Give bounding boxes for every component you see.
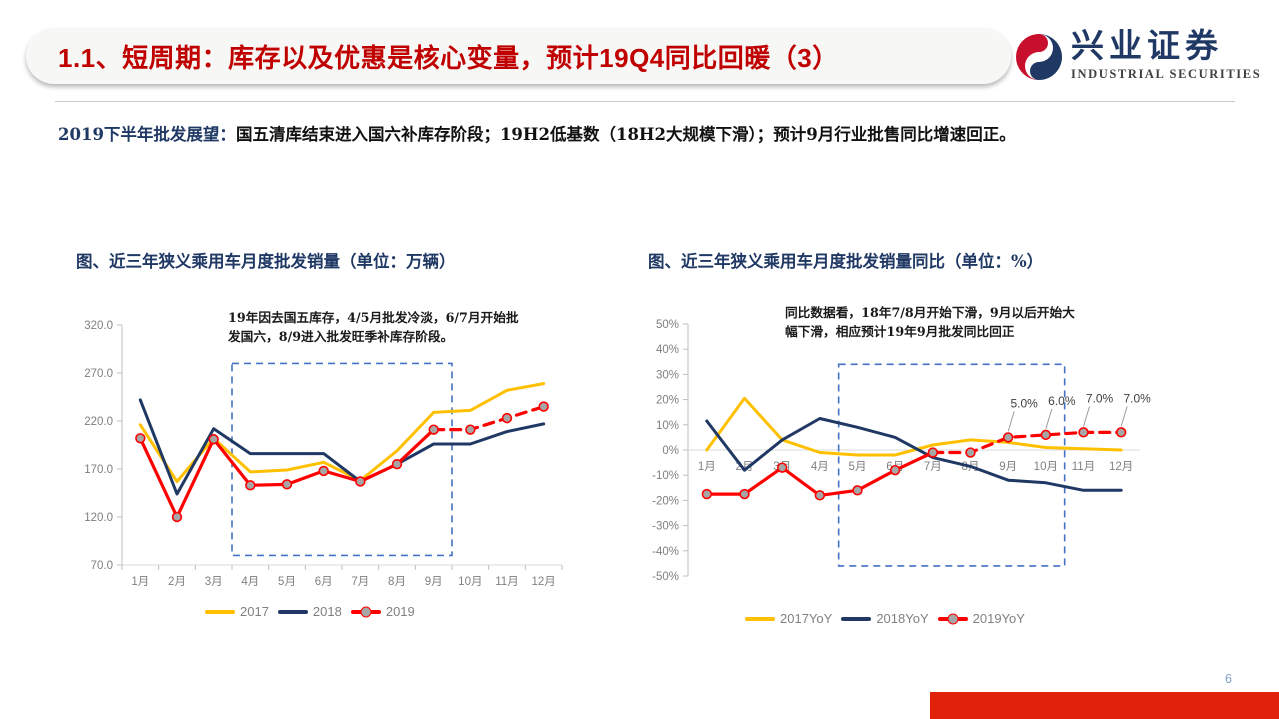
svg-text:50%: 50% [656,319,679,331]
svg-text:3月: 3月 [205,576,223,588]
legend-marker-2019yoy [947,613,958,624]
company-logo: 兴业证券 INDUSTRIAL SECURITIES [1013,27,1263,89]
svg-text:5.0%: 5.0% [1010,396,1038,410]
svg-text:10月: 10月 [1034,461,1058,473]
svg-text:5月: 5月 [849,461,867,473]
lead-highlight: 2019下半年批发展望： [58,125,236,144]
svg-text:-10%: -10% [652,470,679,482]
lead-paragraph: 2019下半年批发展望：国五清库结束进入国六补库存阶段；19H2低基数（18H2… [58,118,1233,151]
svg-text:5月: 5月 [278,576,296,588]
svg-text:220.0: 220.0 [84,416,113,428]
svg-text:12月: 12月 [1109,461,1133,473]
lead-body: 国五清库结束进入国六补库存阶段；19H2低基数（18H2大规模下滑）；预计9月行… [236,125,1016,144]
legend-item-2019[interactable]: 2019 [351,604,415,619]
svg-text:4月: 4月 [241,576,259,588]
header-divider [55,101,1235,102]
svg-text:-50%: -50% [652,571,679,583]
legend-label-2018yoy: 2018YoY [876,611,928,626]
chart-right-canvas: 50%40%30%20%10%0%-10%-20%-30%-40%-50%1月2… [640,300,1160,610]
legend-swatch-2019 [351,610,381,614]
swirl-logo-icon [1013,31,1065,83]
svg-text:70.0: 70.0 [91,560,113,572]
footer-accent-bar [930,692,1279,719]
svg-text:170.0: 170.0 [84,464,113,476]
svg-text:7月: 7月 [351,576,369,588]
logo-english-name: INDUSTRIAL SECURITIES [1071,67,1261,82]
legend-label-2019yoy: 2019YoY [973,611,1025,626]
legend-label-2017yoy: 2017YoY [780,611,832,626]
legend-swatch-2018yoy [841,617,871,621]
legend-item-2018[interactable]: 2018 [278,604,342,619]
chart-heading-left: 图、近三年狭义乘用车月度批发销量（单位：万辆） [76,248,456,272]
svg-text:4月: 4月 [811,461,829,473]
chart-right-legend: 2017YoY 2018YoY 2019YoY [745,611,1025,626]
svg-text:10%: 10% [656,420,679,432]
svg-text:8月: 8月 [388,576,406,588]
chart-right-annotation: 同比数据看，18年7/8月开始下滑，9月以后开始大幅下滑，相应预计19年9月批发… [785,303,1085,341]
legend-marker-2019 [360,606,371,617]
chart-wholesale-volume: 320.0270.0220.0170.0120.070.01月2月3月4月5月6… [76,300,576,630]
legend-swatch-2018 [278,610,308,614]
svg-text:-20%: -20% [652,495,679,507]
legend-swatch-2017yoy [745,617,775,621]
svg-text:2月: 2月 [168,576,186,588]
svg-text:40%: 40% [656,344,679,356]
legend-label-2019: 2019 [386,604,415,619]
page-title: 1.1、短周期：库存以及优惠是核心变量，预计19Q4同比回暖（3） [58,38,1018,78]
chart-wholesale-yoy: 50%40%30%20%10%0%-10%-20%-30%-40%-50%1月2… [640,300,1160,640]
chart-left-legend: 2017 2018 2019 [205,604,415,619]
svg-text:1月: 1月 [131,576,149,588]
legend-label-2017: 2017 [240,604,269,619]
legend-swatch-2017 [205,610,235,614]
chart-left-annotation: 19年因去国五库存，4/5月批发冷淡，6/7月开始批发国六，8/9进入批发旺季补… [228,308,528,346]
legend-swatch-2019yoy [938,617,968,621]
logo-chinese-name: 兴业证券 [1071,27,1223,65]
svg-text:1月: 1月 [698,461,716,473]
svg-text:9月: 9月 [425,576,443,588]
chart-heading-right: 图、近三年狭义乘用车月度批发销量同比（单位：%） [648,248,1043,272]
page-number: 6 [1225,672,1232,686]
svg-text:270.0: 270.0 [84,368,113,380]
svg-text:6.0%: 6.0% [1048,394,1076,408]
svg-text:11月: 11月 [1072,461,1095,473]
legend-label-2018: 2018 [313,604,342,619]
legend-item-2017yoy[interactable]: 2017YoY [745,611,832,626]
svg-text:120.0: 120.0 [84,512,113,524]
svg-text:-30%: -30% [652,521,679,533]
svg-text:10月: 10月 [458,576,482,588]
svg-text:7.0%: 7.0% [1123,391,1151,405]
svg-text:0%: 0% [662,445,679,457]
svg-text:7月: 7月 [924,461,942,473]
legend-item-2017[interactable]: 2017 [205,604,269,619]
svg-text:-40%: -40% [652,546,679,558]
svg-text:7.0%: 7.0% [1086,391,1114,405]
svg-text:6月: 6月 [315,576,333,588]
svg-text:9月: 9月 [999,461,1017,473]
legend-item-2018yoy[interactable]: 2018YoY [841,611,928,626]
legend-item-2019yoy[interactable]: 2019YoY [938,611,1025,626]
svg-text:11月: 11月 [495,576,518,588]
svg-text:12月: 12月 [532,576,556,588]
svg-text:20%: 20% [656,395,679,407]
svg-text:30%: 30% [656,369,679,381]
svg-text:320.0: 320.0 [84,320,113,332]
